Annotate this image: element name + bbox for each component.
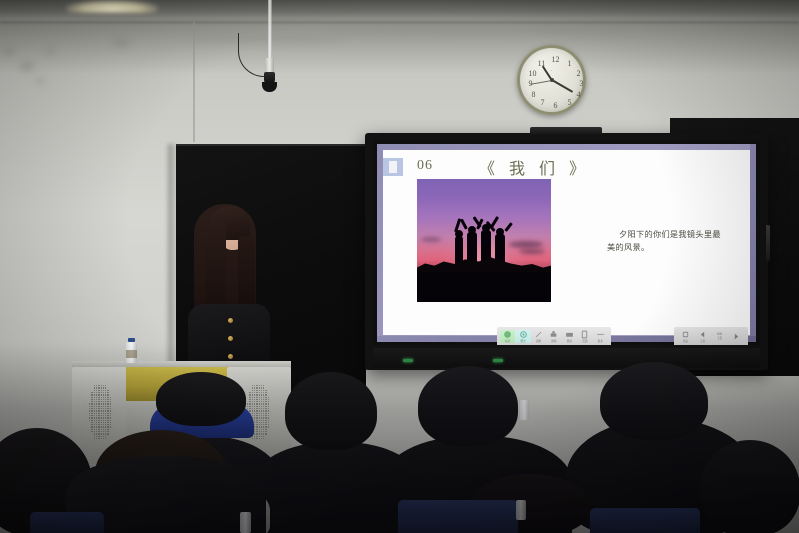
pointer-icon xyxy=(503,330,512,339)
slide-photo xyxy=(417,179,551,302)
clock-numeral: 12 xyxy=(550,55,561,64)
toolbar-label: 键盘 xyxy=(567,340,572,343)
interactive-flat-panel[interactable]: 06 《 我 们 》 xyxy=(365,133,768,370)
toolbar-label: 擦除 xyxy=(551,340,556,343)
toolbar-label: 聚光 xyxy=(521,340,526,343)
attendee-head xyxy=(600,362,708,440)
panel-lower-bezel xyxy=(373,348,760,368)
bottle-label xyxy=(126,350,137,358)
clock-numeral: 8 xyxy=(528,90,539,99)
wall-conduit xyxy=(193,22,195,142)
page-icon xyxy=(580,330,589,339)
wall-mark xyxy=(4,48,14,55)
coat-button xyxy=(228,336,233,341)
panel-power-led xyxy=(403,359,413,362)
clock-brand-mark: · xyxy=(551,68,553,74)
page-counter-value: 6/8 xyxy=(717,333,722,336)
clock-numeral: 7 xyxy=(537,98,548,107)
photo-cloud xyxy=(519,249,545,254)
slide-title: 《 我 们 》 xyxy=(479,155,590,179)
water-bottle xyxy=(516,500,526,520)
toolbar-button-more[interactable]: 更多 xyxy=(593,330,608,343)
microphone-tip xyxy=(262,82,277,92)
ceiling-light-icon xyxy=(66,0,158,13)
clock-numeral: 10 xyxy=(527,69,538,78)
playback-button-stop[interactable]: 结束 xyxy=(677,330,694,343)
presenter xyxy=(186,200,272,380)
slide-body-text: 夕阳下的你们是我镜头里最美的风景。 xyxy=(607,228,725,253)
photo-figure-arm xyxy=(504,222,513,232)
toolbar-button-keyboard[interactable]: 键盘 xyxy=(562,330,577,343)
panel-camera-bar xyxy=(530,127,602,135)
pen-icon xyxy=(534,330,543,339)
seat-back xyxy=(30,512,104,533)
stop-icon xyxy=(681,330,690,339)
keyboard-icon xyxy=(565,330,574,339)
playback-toolbar[interactable]: 结束 上页 6/8 下页 xyxy=(674,327,748,345)
playback-label: 结束 xyxy=(683,340,688,343)
toolbar-button-spotlight[interactable]: 聚光 xyxy=(515,330,530,343)
wall-clock: 12 1 2 3 4 5 6 7 8 9 10 11 · xyxy=(517,45,586,115)
toolbar-button-eraser[interactable]: 擦除 xyxy=(546,330,561,343)
clock-center-pin xyxy=(550,78,554,82)
next-icon xyxy=(732,332,741,341)
water-bottle xyxy=(240,512,251,533)
coat-button xyxy=(228,354,233,359)
toolbar-button-pointer[interactable]: 指针 xyxy=(500,330,515,343)
toolbar-label: 页面 xyxy=(582,340,587,343)
wall-mark xyxy=(36,78,45,84)
attendee-head xyxy=(156,372,246,426)
attendee-head xyxy=(700,440,799,533)
clock-numeral: 2 xyxy=(573,69,584,78)
ceiling-seam xyxy=(0,21,799,24)
toolbar-label: 更多 xyxy=(598,340,603,343)
seat-back xyxy=(590,508,700,533)
clock-minute-hand xyxy=(551,79,573,93)
classroom-scene: 12 1 2 3 4 5 6 7 8 9 10 11 · xyxy=(0,0,799,533)
clock-numeral: 1 xyxy=(564,59,575,68)
photo-figure-head xyxy=(496,228,504,236)
playback-button-next[interactable] xyxy=(728,332,745,341)
photo-cloud xyxy=(421,237,441,242)
slide-frame: 06 《 我 们 》 xyxy=(377,144,756,342)
clock-numeral: 3 xyxy=(576,79,587,88)
toolbar-label: 画笔 xyxy=(536,340,541,343)
prev-icon xyxy=(698,330,707,339)
clock-numeral: 5 xyxy=(564,98,575,107)
wall-seam xyxy=(330,30,630,35)
slide-canvas: 06 《 我 们 》 xyxy=(383,150,750,335)
playback-page-counter: 6/8 下页 xyxy=(711,333,728,340)
clock-face: 12 1 2 3 4 5 6 7 8 9 10 11 · xyxy=(523,51,580,109)
slideshow-toolbar[interactable]: 指针 聚光 画笔 擦除 键盘 xyxy=(497,327,611,345)
speaker-grille xyxy=(89,385,113,441)
more-icon xyxy=(596,330,605,339)
eraser-icon xyxy=(549,330,558,339)
panel-status-led xyxy=(493,359,503,362)
slide-badge-icon xyxy=(383,158,403,176)
panel-side-button[interactable] xyxy=(766,225,770,261)
slide-badge-inner xyxy=(389,161,397,173)
toolbar-label: 指针 xyxy=(505,340,510,343)
toolbar-button-page[interactable]: 页面 xyxy=(577,330,592,343)
playback-label: 上页 xyxy=(700,340,705,343)
playback-label: 下页 xyxy=(717,337,722,340)
seat-back xyxy=(398,500,518,533)
photo-figure-arm xyxy=(460,219,468,230)
water-bottle xyxy=(126,338,137,363)
playback-button-prev[interactable]: 上页 xyxy=(694,330,711,343)
photo-foreground xyxy=(417,272,551,302)
panel-screen[interactable]: 06 《 我 们 》 xyxy=(373,140,760,345)
toolbar-button-pen[interactable]: 画笔 xyxy=(531,330,546,343)
coat-button xyxy=(228,318,233,323)
slide-accent-right xyxy=(750,144,756,342)
wall-mark xyxy=(46,48,54,54)
spotlight-icon xyxy=(519,330,528,339)
attendee-head xyxy=(418,366,518,446)
ceiling xyxy=(0,0,799,22)
attendee-head xyxy=(285,372,377,450)
wall-mark xyxy=(112,40,130,46)
slide-number: 06 xyxy=(417,158,433,174)
wall-mark xyxy=(20,62,34,71)
photo-figure-head xyxy=(468,226,476,234)
clock-numeral: 6 xyxy=(550,101,561,110)
water-bottle xyxy=(520,400,529,420)
